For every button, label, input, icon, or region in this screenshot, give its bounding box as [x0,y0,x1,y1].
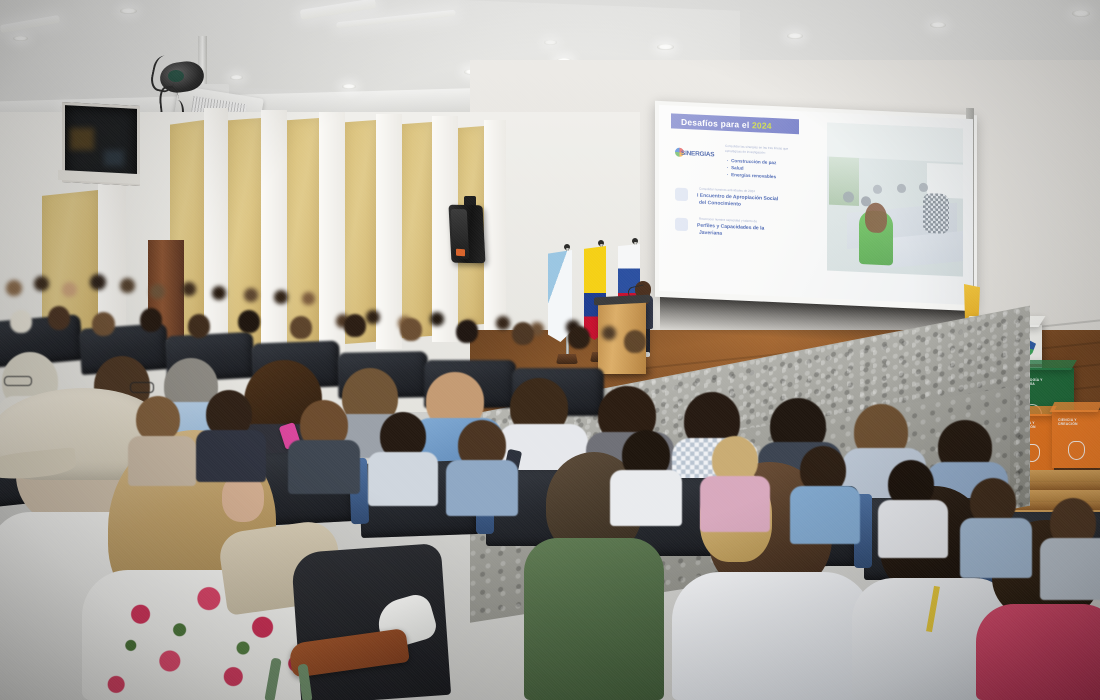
auditorium-photo: Desafíos para el 2024 SINERGIAS Consolid… [0,0,1100,700]
audience-fill-torsos [0,0,1100,700]
